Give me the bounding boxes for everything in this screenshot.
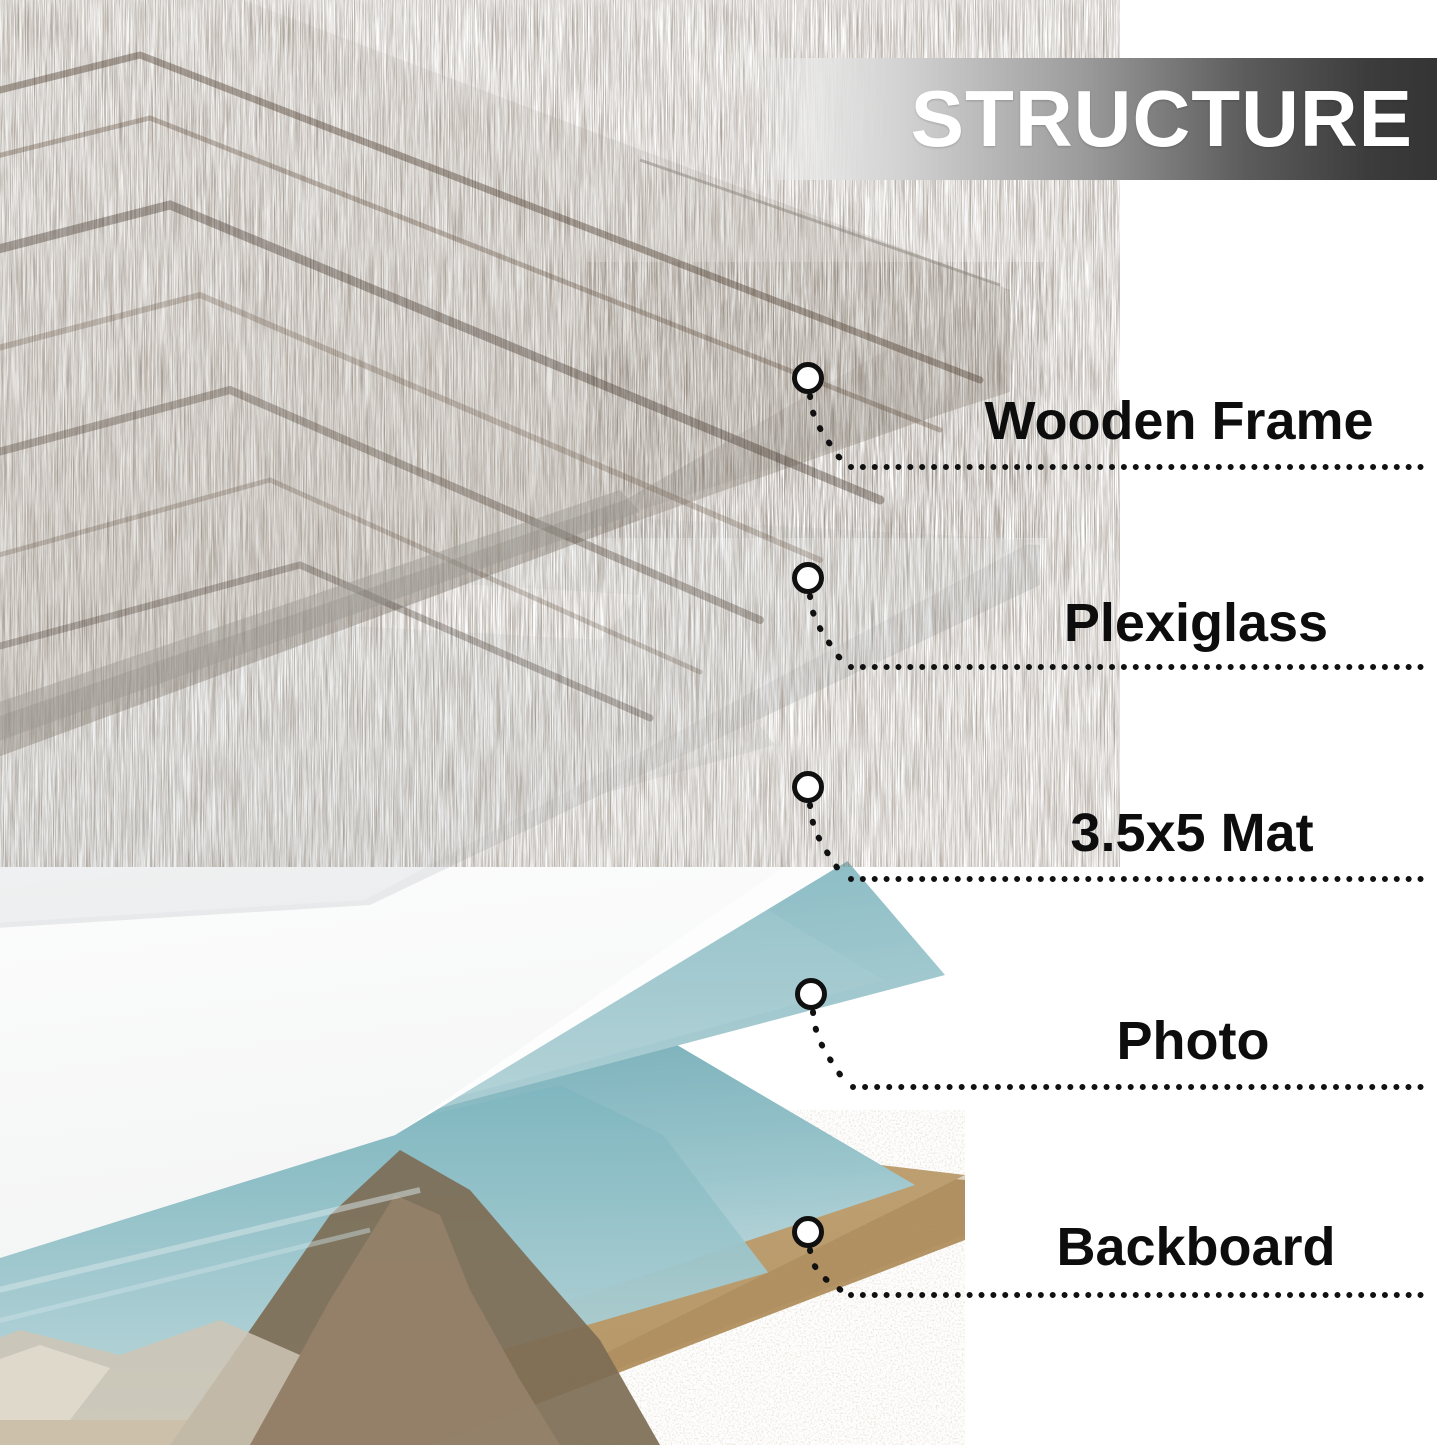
banner-title: STRUCTURE bbox=[911, 79, 1413, 159]
marker-wooden-frame[interactable] bbox=[792, 362, 824, 394]
marker-mat[interactable] bbox=[792, 771, 824, 803]
dotline-plexiglass bbox=[848, 664, 1424, 670]
label-wooden-frame: Wooden Frame bbox=[984, 394, 1373, 448]
structure-infographic: STRUCTURE Wooden Frame Plexiglass 3.5x5 … bbox=[0, 0, 1445, 1445]
label-backboard: Backboard bbox=[1056, 1220, 1335, 1274]
label-mat: 3.5x5 Mat bbox=[1070, 806, 1313, 860]
label-plexiglass: Plexiglass bbox=[1064, 596, 1328, 650]
marker-plexiglass[interactable] bbox=[792, 562, 824, 594]
dotline-backboard bbox=[848, 1292, 1424, 1298]
dotline-wooden-frame bbox=[848, 464, 1424, 470]
marker-photo[interactable] bbox=[795, 978, 827, 1010]
structure-banner: STRUCTURE bbox=[752, 58, 1437, 180]
label-photo: Photo bbox=[1117, 1014, 1270, 1068]
marker-backboard[interactable] bbox=[792, 1216, 824, 1248]
dotline-photo bbox=[850, 1084, 1424, 1090]
dotline-mat bbox=[848, 876, 1424, 882]
